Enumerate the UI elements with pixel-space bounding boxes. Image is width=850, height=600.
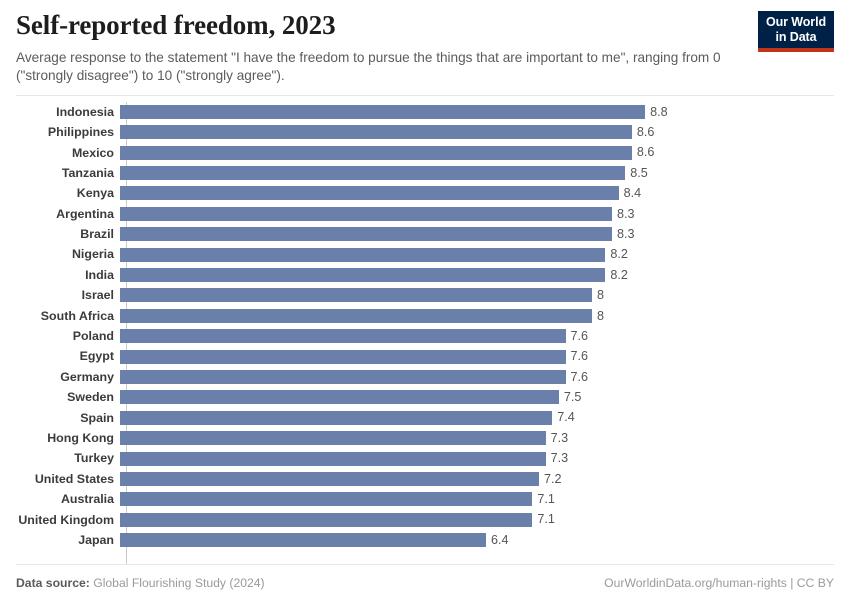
bar-fill[interactable] <box>120 533 486 547</box>
bar-track: 7.5 <box>120 387 834 407</box>
bar-category-label: Argentina <box>16 208 120 220</box>
bar-row[interactable]: South Africa8 <box>16 306 834 326</box>
bar-value-label: 6.4 <box>486 534 509 547</box>
bar-category-label: India <box>16 269 120 281</box>
bar-value-label: 8.2 <box>605 248 628 261</box>
bar-row[interactable]: Philippines8.6 <box>16 122 834 142</box>
bar-fill[interactable] <box>120 166 625 180</box>
bar-value-label: 7.2 <box>539 473 562 486</box>
bar-fill[interactable] <box>120 390 559 404</box>
bar-row[interactable]: Brazil8.3 <box>16 224 834 244</box>
chart-header: Self-reported freedom, 2023 Average resp… <box>16 0 834 85</box>
data-source-value: Global Flourishing Study (2024) <box>93 576 264 590</box>
bar-category-label: Nigeria <box>16 248 120 260</box>
attribution-link[interactable]: OurWorldinData.org/human-rights | CC BY <box>604 576 834 590</box>
bar-track: 8.3 <box>120 204 834 224</box>
bar-track: 8 <box>120 285 834 305</box>
bar-category-label: Brazil <box>16 228 120 240</box>
bar-row[interactable]: Sweden7.5 <box>16 387 834 407</box>
bar-row[interactable]: Egypt7.6 <box>16 346 834 366</box>
bar-value-label: 7.1 <box>532 513 555 526</box>
bar-fill[interactable] <box>120 329 566 343</box>
page-title: Self-reported freedom, 2023 <box>16 10 834 42</box>
bar-category-label: Egypt <box>16 350 120 362</box>
bar-track: 8.8 <box>120 102 834 122</box>
bar-category-label: Tanzania <box>16 167 120 179</box>
bar-value-label: 8.6 <box>632 126 655 139</box>
bar-row[interactable]: Germany7.6 <box>16 367 834 387</box>
bar-category-label: Poland <box>16 330 120 342</box>
logo-line-1: Our World <box>758 15 834 30</box>
bar-category-label: Mexico <box>16 147 120 159</box>
bar-fill[interactable] <box>120 472 539 486</box>
data-source-label: Data source: <box>16 576 90 590</box>
bar-row[interactable]: Turkey7.3 <box>16 448 834 468</box>
chart-footer: Data source: Global Flourishing Study (2… <box>16 564 834 600</box>
bar-fill[interactable] <box>120 227 612 241</box>
bar-category-label: Australia <box>16 493 120 505</box>
bar-fill[interactable] <box>120 125 632 139</box>
bar-value-label: 8 <box>592 289 604 302</box>
bar-category-label: United States <box>16 473 120 485</box>
bar-track: 8.5 <box>120 163 834 183</box>
bar-fill[interactable] <box>120 513 532 527</box>
bar-row[interactable]: Kenya8.4 <box>16 183 834 203</box>
bar-category-label: Germany <box>16 371 120 383</box>
chart-plot-area: Indonesia8.8Philippines8.6Mexico8.6Tanza… <box>16 96 834 564</box>
bar-value-label: 8.8 <box>645 106 668 119</box>
bar-fill[interactable] <box>120 431 546 445</box>
bar-fill[interactable] <box>120 309 592 323</box>
bar-value-label: 7.4 <box>552 411 575 424</box>
bar-value-label: 7.5 <box>559 391 582 404</box>
bar-track: 8.2 <box>120 265 834 285</box>
bar-category-label: Japan <box>16 534 120 546</box>
bar-fill[interactable] <box>120 248 605 262</box>
bar-value-label: 7.6 <box>566 350 589 363</box>
chart-page: Self-reported freedom, 2023 Average resp… <box>0 0 850 600</box>
bar-row[interactable]: Indonesia8.8 <box>16 102 834 122</box>
bar-fill[interactable] <box>120 186 619 200</box>
our-world-in-data-logo[interactable]: Our World in Data <box>758 11 834 52</box>
bar-fill[interactable] <box>120 350 566 364</box>
bar-category-label: Philippines <box>16 126 120 138</box>
bar-category-label: Indonesia <box>16 106 120 118</box>
bar-track: 8.4 <box>120 183 834 203</box>
bar-row[interactable]: Tanzania8.5 <box>16 163 834 183</box>
chart-subtitle: Average response to the statement "I hav… <box>16 49 751 85</box>
bar-track: 7.6 <box>120 346 834 366</box>
bar-category-label: Sweden <box>16 391 120 403</box>
bar-row[interactable]: India8.2 <box>16 265 834 285</box>
bar-value-label: 8 <box>592 310 604 323</box>
data-source: Data source: Global Flourishing Study (2… <box>16 576 265 590</box>
bar-row[interactable]: Spain7.4 <box>16 408 834 428</box>
bar-row[interactable]: Australia7.1 <box>16 489 834 509</box>
bar-row[interactable]: United Kingdom7.1 <box>16 510 834 530</box>
bar-category-label: Kenya <box>16 187 120 199</box>
bar-row[interactable]: United States7.2 <box>16 469 834 489</box>
bar-value-label: 8.4 <box>619 187 642 200</box>
bar-track: 8 <box>120 306 834 326</box>
bar-row[interactable]: Argentina8.3 <box>16 204 834 224</box>
bar-category-label: South Africa <box>16 310 120 322</box>
bar-category-label: United Kingdom <box>16 514 120 526</box>
bar-row[interactable]: Nigeria8.2 <box>16 244 834 264</box>
bar-fill[interactable] <box>120 411 552 425</box>
bar-track: 7.3 <box>120 428 834 448</box>
bar-fill[interactable] <box>120 492 532 506</box>
bar-value-label: 8.3 <box>612 228 635 241</box>
bar-row[interactable]: Israel8 <box>16 285 834 305</box>
bar-value-label: 8.5 <box>625 167 648 180</box>
bar-track: 7.3 <box>120 448 834 468</box>
bar-list: Indonesia8.8Philippines8.6Mexico8.6Tanza… <box>16 102 834 551</box>
bar-fill[interactable] <box>120 146 632 160</box>
bar-track: 7.6 <box>120 367 834 387</box>
bar-track: 7.1 <box>120 489 834 509</box>
bar-category-label: Turkey <box>16 452 120 464</box>
bar-category-label: Hong Kong <box>16 432 120 444</box>
bar-value-label: 8.3 <box>612 208 635 221</box>
bar-value-label: 7.1 <box>532 493 555 506</box>
bar-value-label: 8.6 <box>632 146 655 159</box>
bar-track: 8.3 <box>120 224 834 244</box>
bar-row[interactable]: Japan6.4 <box>16 530 834 550</box>
bar-track: 7.6 <box>120 326 834 346</box>
bar-track: 8.6 <box>120 143 834 163</box>
bar-track: 8.6 <box>120 122 834 142</box>
bar-value-label: 7.6 <box>566 330 589 343</box>
bar-fill[interactable] <box>120 105 645 119</box>
bar-track: 7.1 <box>120 510 834 530</box>
bar-value-label: 7.3 <box>546 452 569 465</box>
bar-track: 7.4 <box>120 408 834 428</box>
bar-row[interactable]: Poland7.6 <box>16 326 834 346</box>
bar-track: 6.4 <box>120 530 834 550</box>
bar-value-label: 8.2 <box>605 269 628 282</box>
bar-value-label: 7.3 <box>546 432 569 445</box>
bar-fill[interactable] <box>120 452 546 466</box>
bar-category-label: Spain <box>16 412 120 424</box>
bar-fill[interactable] <box>120 207 612 221</box>
bar-value-label: 7.6 <box>566 371 589 384</box>
bar-track: 7.2 <box>120 469 834 489</box>
bar-row[interactable]: Mexico8.6 <box>16 143 834 163</box>
bar-fill[interactable] <box>120 268 605 282</box>
bar-row[interactable]: Hong Kong7.3 <box>16 428 834 448</box>
bar-fill[interactable] <box>120 370 566 384</box>
bar-fill[interactable] <box>120 288 592 302</box>
bar-track: 8.2 <box>120 244 834 264</box>
logo-line-2: in Data <box>758 30 834 45</box>
bar-category-label: Israel <box>16 289 120 301</box>
